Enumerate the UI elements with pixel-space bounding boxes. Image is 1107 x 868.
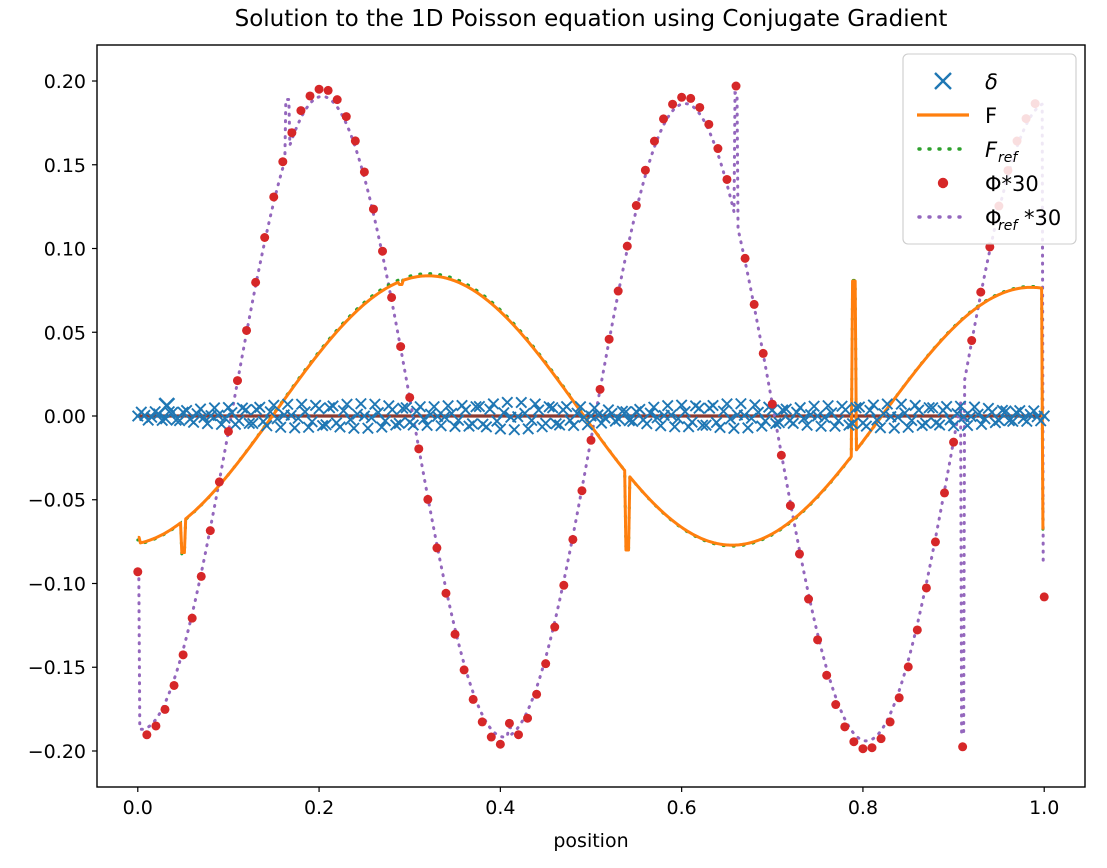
y-tick-label: −0.20 xyxy=(28,741,86,763)
data-point xyxy=(596,385,605,394)
data-point xyxy=(351,136,360,145)
data-point xyxy=(260,233,269,242)
x-tick-label: 0.4 xyxy=(485,797,515,819)
data-point xyxy=(940,488,949,497)
y-tick-label: −0.10 xyxy=(28,573,86,595)
x-tick-label: 1.0 xyxy=(1029,797,1059,819)
data-point xyxy=(786,501,795,510)
data-point xyxy=(732,82,741,91)
data-point xyxy=(333,95,342,104)
data-point xyxy=(478,717,487,726)
y-tick-label: −0.05 xyxy=(28,490,86,512)
data-point xyxy=(759,349,768,358)
data-point xyxy=(587,436,596,445)
y-tick-label: −0.15 xyxy=(28,657,86,679)
legend-label-subscript: ref xyxy=(998,150,1019,166)
data-point xyxy=(650,137,659,146)
data-point xyxy=(750,300,759,309)
data-point xyxy=(423,495,432,504)
data-point xyxy=(858,744,867,753)
data-point xyxy=(460,665,469,674)
data-point xyxy=(840,722,849,731)
data-point xyxy=(505,719,514,728)
data-point xyxy=(632,201,641,210)
x-tick-label: 0.6 xyxy=(667,797,697,819)
data-point xyxy=(849,737,858,746)
data-point xyxy=(179,650,188,659)
y-tick-label: 0.00 xyxy=(44,406,86,428)
data-point xyxy=(133,567,142,576)
data-point xyxy=(296,106,305,115)
data-point xyxy=(958,742,967,751)
data-point xyxy=(813,635,822,644)
data-point xyxy=(713,144,722,153)
matplotlib-figure: 0.00.20.40.60.81.00.200.150.100.050.00−0… xyxy=(0,0,1107,868)
data-point xyxy=(414,444,423,453)
data-point xyxy=(568,535,577,544)
y-tick-label: 0.10 xyxy=(44,239,86,261)
legend-label: Φ*30 xyxy=(985,172,1039,196)
data-point xyxy=(441,589,450,598)
data-point xyxy=(269,192,278,201)
legend: δFFrefΦ*30Φref*30 xyxy=(903,54,1076,244)
data-point xyxy=(197,572,206,581)
data-point xyxy=(170,681,179,690)
data-point xyxy=(577,486,586,495)
data-point xyxy=(514,730,523,739)
data-point xyxy=(151,721,160,730)
x-tick-label: 0.8 xyxy=(848,797,878,819)
data-point xyxy=(895,693,904,702)
legend-label-tail: *30 xyxy=(1024,206,1061,230)
data-point xyxy=(242,326,251,335)
data-point xyxy=(623,242,632,251)
data-point xyxy=(541,659,550,668)
data-point xyxy=(949,438,958,447)
data-point xyxy=(432,543,441,552)
data-point xyxy=(722,175,731,184)
data-point xyxy=(215,477,224,486)
data-point xyxy=(867,743,876,752)
legend-label: F xyxy=(985,104,997,128)
data-point xyxy=(360,167,369,176)
data-point xyxy=(641,166,650,175)
data-point xyxy=(822,671,831,680)
data-point xyxy=(777,451,786,460)
data-point xyxy=(469,695,478,704)
data-point xyxy=(142,730,151,739)
data-point xyxy=(831,700,840,709)
data-point xyxy=(405,393,414,402)
plot-title: Solution to the 1D Poisson equation usin… xyxy=(235,6,948,32)
data-point xyxy=(324,86,333,95)
data-point xyxy=(976,288,985,297)
data-point xyxy=(342,112,351,121)
data-point xyxy=(922,583,931,592)
data-point xyxy=(967,336,976,345)
data-point xyxy=(369,205,378,214)
data-point xyxy=(804,595,813,604)
legend-label-subscript: ref xyxy=(998,218,1019,234)
data-point xyxy=(904,662,913,671)
x-tick-label: 0.0 xyxy=(123,797,153,819)
data-point xyxy=(768,400,777,409)
data-point xyxy=(278,157,287,166)
data-point xyxy=(188,614,197,623)
y-tick-label: 0.20 xyxy=(44,71,86,93)
y-tick-label: 0.05 xyxy=(44,322,86,344)
data-point xyxy=(532,690,541,699)
data-point xyxy=(605,335,614,344)
data-point xyxy=(550,623,559,632)
data-point xyxy=(695,103,704,112)
data-point xyxy=(206,526,215,535)
data-point xyxy=(931,537,940,546)
data-point xyxy=(686,94,695,103)
legend-label: F xyxy=(985,138,998,162)
data-point xyxy=(287,128,296,137)
data-point xyxy=(886,717,895,726)
data-point xyxy=(795,549,804,558)
data-point xyxy=(741,254,750,263)
legend-dot-icon xyxy=(938,178,948,188)
data-point xyxy=(877,734,886,743)
data-point xyxy=(559,581,568,590)
data-point xyxy=(315,85,324,94)
data-point xyxy=(387,293,396,302)
data-point xyxy=(668,100,677,109)
data-point xyxy=(496,740,505,749)
data-point xyxy=(224,427,233,436)
data-point xyxy=(487,733,496,742)
data-point xyxy=(451,630,460,639)
delta-outlier-marker xyxy=(159,398,174,413)
data-point xyxy=(160,705,169,714)
x-axis-label: position xyxy=(553,830,628,852)
legend-label: δ xyxy=(985,70,998,94)
data-point xyxy=(913,625,922,634)
data-point xyxy=(677,93,686,102)
data-point xyxy=(378,247,387,256)
data-point xyxy=(704,120,713,129)
plot-canvas: 0.00.20.40.60.81.00.200.150.100.050.00−0… xyxy=(0,0,1107,868)
data-point xyxy=(306,91,315,100)
data-point xyxy=(251,278,260,287)
data-point xyxy=(233,376,242,385)
x-tick-label: 0.2 xyxy=(304,797,334,819)
data-point xyxy=(614,287,623,296)
data-point xyxy=(523,714,532,723)
data-point xyxy=(396,342,405,351)
data-point xyxy=(659,114,668,123)
data-point xyxy=(1040,592,1049,601)
y-tick-label: 0.15 xyxy=(44,155,86,177)
